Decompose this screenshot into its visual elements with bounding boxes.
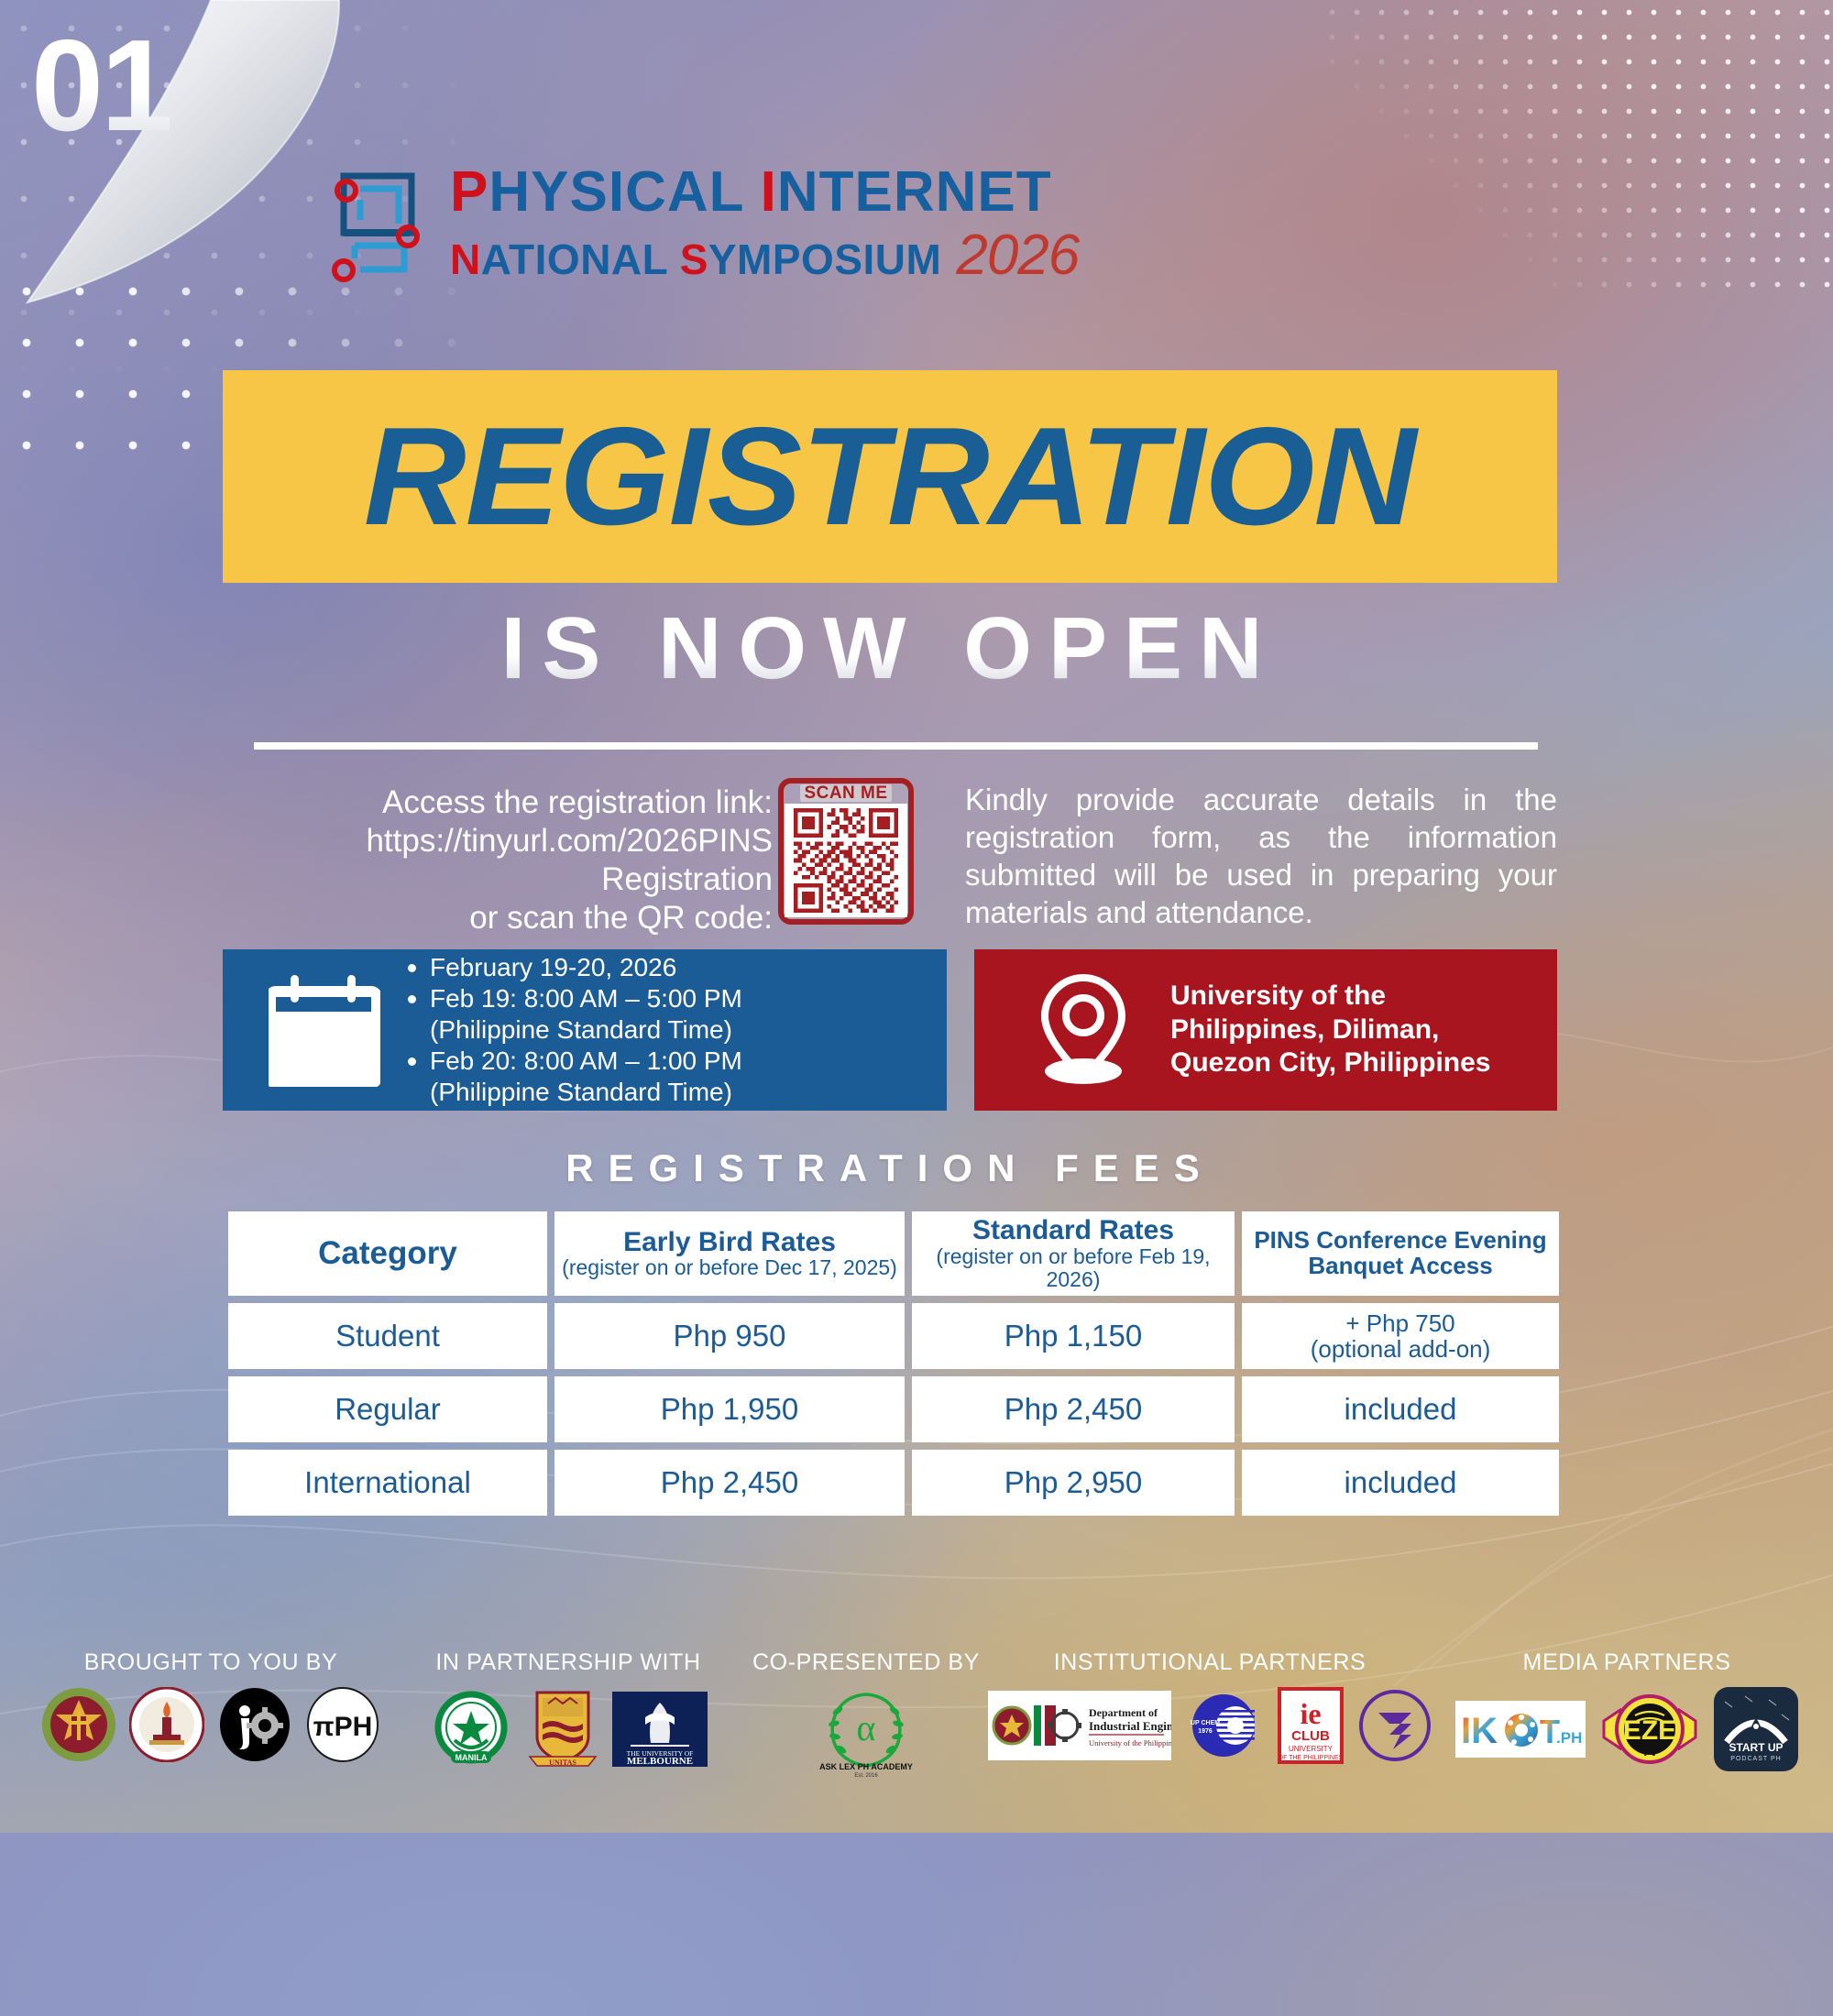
cell-category: Regular: [228, 1376, 547, 1442]
footer-label-in-partnership-with: IN PARTNERSHIP WITH: [385, 1649, 752, 1676]
registration-fees-title: REGISTRATION FEES: [223, 1146, 1557, 1190]
event-date-box: February 19-20, 2026 Feb 19: 8:00 AM – 5…: [223, 949, 947, 1111]
registration-fees-table: Category Early Bird Rates (register on o…: [228, 1211, 1559, 1516]
is-now-open-subheadline: IS NOW OPEN: [223, 605, 1557, 693]
date-item-2-text: Feb 20: 8:00 AM – 1:00 PM: [430, 1046, 742, 1075]
footer-group-media-partners: MEDIA PARTNERS IK T: [1430, 1649, 1824, 1771]
cell-early-bird: Php 2,450: [554, 1450, 905, 1516]
start-up-podcast-ph-logo: START UP PODCAST PH: [1714, 1687, 1798, 1771]
title-n-initial: N: [450, 236, 481, 283]
location-pin-icon: [1029, 972, 1137, 1088]
pi-ph-text: πPH: [313, 1712, 373, 1742]
startup-line2-text: PODCAST PH: [1730, 1756, 1781, 1762]
registration-note-text: Kindly provide accurate details in the r…: [965, 782, 1557, 932]
melbourne-line2-text: MELBOURNE: [627, 1756, 693, 1767]
table-row: International Php 2,450 Php 2,950 includ…: [228, 1450, 1559, 1516]
registration-url-line2[interactable]: Registration: [601, 861, 773, 897]
cell-category: International: [228, 1450, 547, 1516]
up-chem-1976-logo: UP CHEM 1976: [1184, 1690, 1263, 1761]
access-qr-instruction: or scan the QR code:: [223, 899, 773, 937]
cell-banquet-line1: + Php 750: [1345, 1310, 1454, 1336]
qr-code-block[interactable]: SCAN ME: [773, 774, 919, 925]
table-row: Student Php 950 Php 1,150 + Php 750 (opt…: [228, 1303, 1559, 1369]
date-item-1: Feb 19: 8:00 AM – 5:00 PM (Philippine St…: [404, 983, 742, 1045]
header-cell-early-bird: Early Bird Rates (register on or before …: [554, 1211, 905, 1296]
cell-early-bird: Php 950: [554, 1303, 905, 1369]
title-s-initial: S: [680, 236, 708, 283]
die-line3-text: University of the Philippines Los Baños: [1089, 1738, 1171, 1748]
date-item-2-sub: (Philippine Standard Time): [430, 1077, 742, 1108]
footer-label-media-partners: MEDIA PARTNERS: [1430, 1649, 1824, 1676]
eze-tv-text: TV: [1641, 1744, 1659, 1759]
dlsu-manila-text: MANILA: [456, 1753, 488, 1762]
cell-banquet-line2: (optional add-on): [1311, 1336, 1491, 1362]
page-curl-decoration: 01: [0, 0, 385, 367]
calendar-icon: [269, 973, 380, 1087]
footer-group-co-presented-by: CO-PRESENTED BY α ASK LEX: [742, 1649, 990, 1779]
university-of-melbourne-logo: THE UNIVERSITY OF MELBOURNE: [612, 1692, 708, 1767]
registration-banner: REGISTRATION: [223, 370, 1557, 583]
qr-code-image[interactable]: [785, 804, 907, 917]
header-cell-banquet: PINS Conference Evening Banquet Access: [1242, 1211, 1559, 1296]
ie-club-up-logo: ie CLUB UNIVERSITY OF THE PHILIPPINES: [1276, 1687, 1345, 1764]
cell-banquet: included: [1242, 1376, 1559, 1442]
date-item-0-text: February 19-20, 2026: [430, 953, 676, 981]
university-of-santo-tomas-logo: UNITAS: [526, 1687, 599, 1771]
cell-standard: Php 1,150: [912, 1303, 1235, 1369]
ieclub-ie-text: ie: [1300, 1697, 1321, 1730]
footer-label-institutional-partners: INSTITUTIONAL PARTNERS: [981, 1649, 1439, 1676]
date-item-1-text: Feb 19: 8:00 AM – 5:00 PM: [430, 984, 742, 1013]
footer-label-brought-to-you-by: BROUGHT TO YOU BY: [18, 1649, 403, 1676]
cell-standard: Php 2,450: [912, 1376, 1235, 1442]
upchem-line2-text: 1976: [1198, 1728, 1213, 1735]
event-title-line2: NATIONAL SYMPOSIUM 2026: [450, 223, 1079, 288]
registration-note-block: Kindly provide accurate details in the r…: [919, 774, 1557, 932]
date-item-2: Feb 20: 8:00 AM – 1:00 PM (Philippine St…: [404, 1046, 742, 1107]
footer-group-brought-to-you-by: BROUGHT TO YOU BY: [18, 1649, 403, 1762]
cell-standard: Php 2,950: [912, 1450, 1235, 1516]
registration-headline: REGISTRATION: [364, 407, 1416, 546]
footer-partners: BROUGHT TO YOU BY: [0, 1649, 1833, 1833]
title-national-rest: ATIONAL: [481, 236, 680, 283]
header-early-bird-label: Early Bird Rates: [623, 1228, 836, 1257]
die-line1-text: Department of: [1089, 1706, 1158, 1719]
ask-lex-name-text: ASK LEX PH ACADEMY: [819, 1762, 913, 1771]
title-i-initial: I: [761, 160, 777, 224]
upchem-line1-text: UP CHEM: [1191, 1720, 1220, 1726]
ask-lex-est-text: Est. 2016: [854, 1773, 878, 1779]
uplb-department-of-industrial-engineering-logo: Department of Industrial Engineering Uni…: [988, 1691, 1171, 1760]
scan-me-label: SCAN ME: [800, 784, 891, 802]
footer-label-co-presented-by: CO-PRESENTED BY: [742, 1649, 990, 1676]
title-symposium-rest: YMPOSIUM: [708, 236, 941, 283]
table-row: Regular Php 1,950 Php 2,450 included: [228, 1376, 1559, 1442]
header-banquet-label: PINS Conference Evening Banquet Access: [1249, 1228, 1552, 1278]
ieclub-univ-text: UNIVERSITY: [1289, 1745, 1334, 1753]
ie-circle-logo: [217, 1687, 292, 1762]
cell-category: Student: [228, 1303, 547, 1369]
access-link-intro: Access the registration link:: [223, 783, 773, 822]
pi-ph-logo: πPH: [305, 1687, 380, 1762]
event-title-line1: PHYSICAL INTERNET: [450, 163, 1079, 221]
ust-unitas-text: UNITAS: [549, 1759, 576, 1767]
is-now-open-subheadline-wrap: IS NOW OPEN: [223, 605, 1557, 693]
ieclub-phil-text: OF THE PHILIPPINES: [1279, 1755, 1344, 1761]
header-category-label: Category: [318, 1236, 457, 1270]
ask-lex-ph-academy-logo: α ASK LEX PH ACADEMY Est. 2016: [811, 1687, 921, 1779]
event-details-row: February 19-20, 2026 Feb 19: 8:00 AM – 5…: [223, 949, 1557, 1111]
registration-url-line1[interactable]: https://tinyurl.com/2026PINS: [366, 823, 773, 859]
header-standard-label: Standard Rates: [972, 1216, 1174, 1245]
die-line2-text: Industrial Engineering: [1089, 1719, 1171, 1733]
purple-ie-society-logo: [1358, 1689, 1432, 1762]
step-number: 01: [31, 11, 170, 161]
qr-frame[interactable]: SCAN ME: [778, 778, 914, 925]
divider-rule: [254, 742, 1538, 750]
ikot-ph-text: .PH: [1556, 1729, 1582, 1747]
table-header-row: Category Early Bird Rates (register on o…: [228, 1211, 1559, 1296]
event-venue-box: University of the Philippines, Diliman, …: [974, 949, 1557, 1111]
title-p-initial: P: [450, 160, 488, 224]
header-standard-sub: (register on or before Feb 19, 2026): [919, 1245, 1227, 1291]
date-item-1-sub: (Philippine Standard Time): [430, 1014, 742, 1046]
title-physical-rest: HYSICAL: [488, 160, 760, 224]
eze-text: EZE: [1623, 1715, 1676, 1746]
de-la-salle-university-manila-logo: MANILA: [429, 1687, 513, 1771]
header-cell-category: Category: [228, 1211, 547, 1296]
ieclub-club-text: CLUB: [1291, 1728, 1330, 1744]
ikot-ph-logo: IK T .PH: [1455, 1701, 1586, 1758]
venue-text: University of the Philippines, Diliman, …: [1170, 980, 1541, 1080]
up-seal-logo: [41, 1687, 116, 1762]
registration-link-block: Access the registration link: https://ti…: [223, 774, 773, 937]
cell-banquet: included: [1242, 1450, 1559, 1516]
cell-early-bird: Php 1,950: [554, 1376, 905, 1442]
registration-access-row: Access the registration link: https://ti…: [223, 774, 1557, 939]
up-college-of-engineering-logo: [129, 1687, 204, 1762]
eze-tv-logo: EZE TV: [1598, 1690, 1701, 1769]
event-date-list: February 19-20, 2026 Feb 19: 8:00 AM – 5…: [404, 952, 742, 1109]
header-cell-standard: Standard Rates (register on or before Fe…: [912, 1211, 1235, 1296]
qr-code-icon: [789, 808, 903, 913]
ikot-ik-text: IK: [1461, 1711, 1498, 1751]
halftone-dots-top-right: [1320, 0, 1833, 302]
startup-line1-text: START UP: [1729, 1741, 1783, 1754]
footer-group-in-partnership-with: IN PARTNERSHIP WITH MANILA UNITAS: [385, 1649, 752, 1771]
event-branding: PHYSICAL INTERNET NATIONAL SYMPOSIUM 202…: [325, 163, 1079, 288]
header-early-bird-sub: (register on or before Dec 17, 2025): [562, 1256, 897, 1279]
event-year: 2026: [956, 223, 1079, 288]
footer-group-institutional-partners: INSTITUTIONAL PARTNERS Department of Ind…: [981, 1649, 1439, 1764]
title-internet-rest: NTERNET: [777, 160, 1052, 224]
alpha-glyph: α: [857, 1707, 876, 1748]
date-item-0: February 19-20, 2026: [404, 952, 742, 983]
cell-banquet: + Php 750 (optional add-on): [1242, 1303, 1559, 1369]
